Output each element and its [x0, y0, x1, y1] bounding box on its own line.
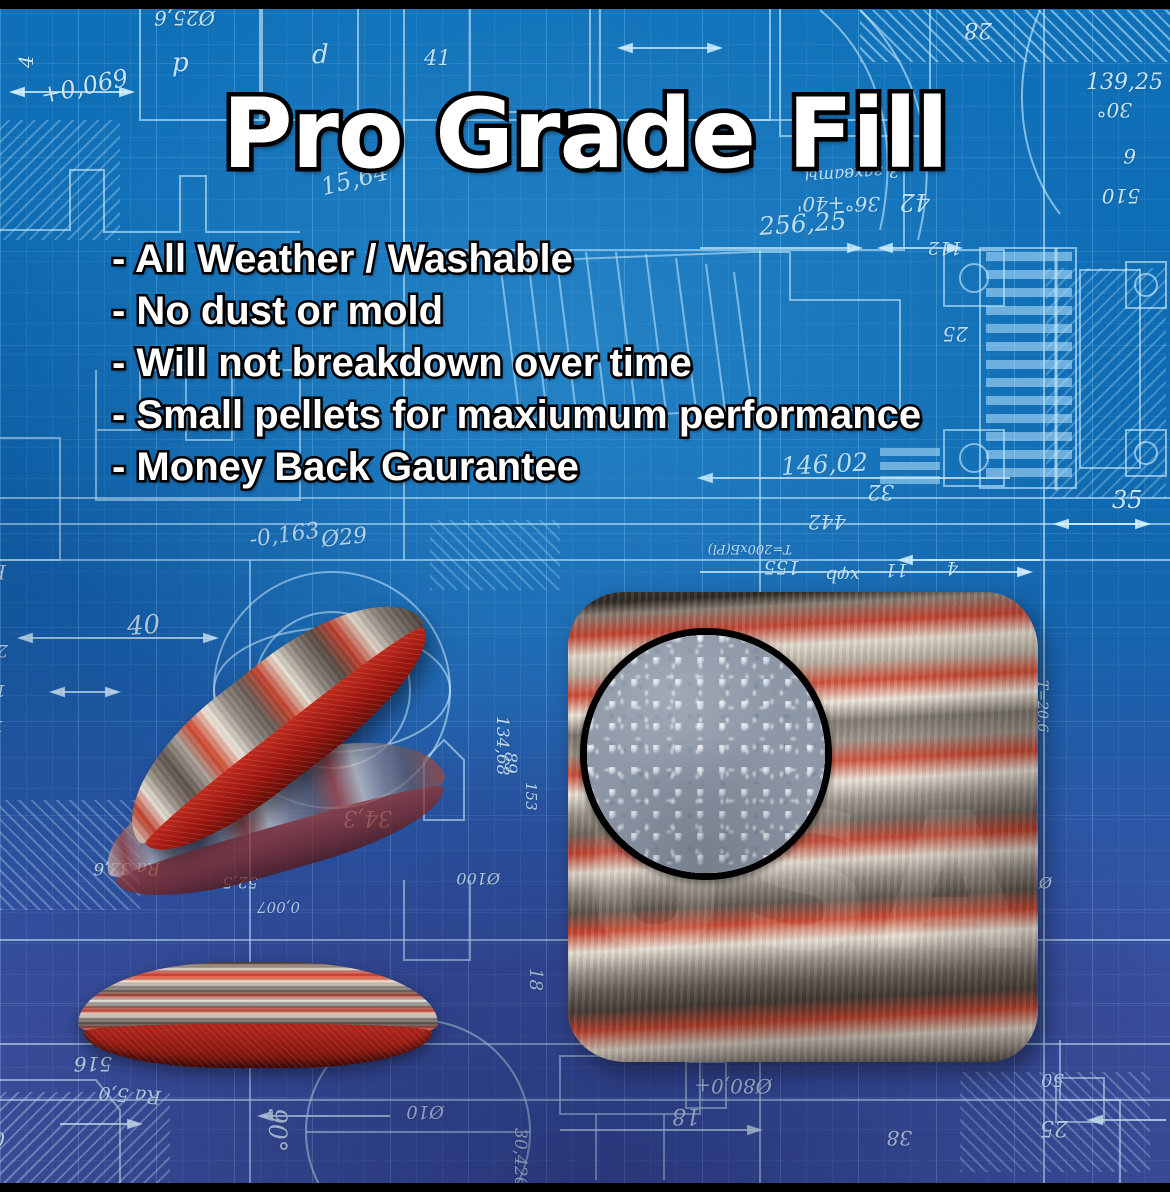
- feature-list-item: - No dust or mold: [112, 285, 921, 337]
- bean-bag-angled-top: [108, 588, 446, 888]
- page-title-text: Pro Grade Fill: [222, 86, 948, 182]
- feature-list-item: - Small pellets for maxiumum performance: [112, 389, 921, 441]
- bean-bag-red-underside: [84, 1024, 432, 1068]
- promo-poster: +0,0694pØ25,6d4115,6428139,2530°6510256,…: [0, 0, 1170, 1192]
- bean-bag-angled-top-body: [98, 568, 454, 883]
- letterbox-bar-bottom: [0, 1183, 1170, 1192]
- letterbox-bar-top: [0, 0, 1170, 9]
- page-title: Pro Grade Fill: [0, 86, 1170, 182]
- feature-list-item: - Money Back Gaurantee: [112, 441, 921, 493]
- bean-bag-fabric-face: [98, 568, 433, 856]
- feature-list: - All Weather / Washable- No dust or mol…: [112, 233, 921, 493]
- pellet-closeup-circle: [580, 628, 832, 880]
- feature-list-items: - All Weather / Washable- No dust or mol…: [112, 233, 921, 493]
- bean-bag-flat-bottom: [78, 962, 438, 1070]
- feature-list-item: - Will not breakdown over time: [112, 337, 921, 389]
- pellet-circle-gloss: [587, 635, 825, 873]
- feature-list-item: - All Weather / Washable: [112, 233, 921, 285]
